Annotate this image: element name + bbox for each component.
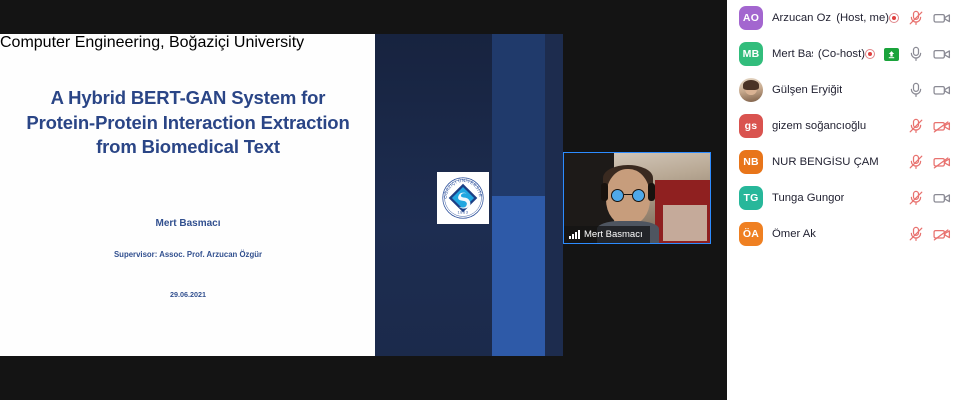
screen-share-icon xyxy=(884,48,899,61)
participant-row[interactable]: TGTunga Gungor xyxy=(727,180,960,216)
avatar-initials: NB xyxy=(739,150,763,174)
svg-text:1863: 1863 xyxy=(458,210,469,215)
participant-row[interactable]: Gülşen Eryiğit xyxy=(727,72,960,108)
presentation-slide: A Hybrid BERT-GAN System for Protein-Pro… xyxy=(0,34,563,356)
participant-name: NUR BENGİSU ÇAM xyxy=(772,156,879,168)
video-camera-off-icon[interactable] xyxy=(933,118,951,134)
participant-status-icons xyxy=(908,82,951,98)
slide-band-edge xyxy=(545,34,563,356)
participant-row[interactable]: AOArzucan Ozgur(Host, me) xyxy=(727,0,960,36)
participant-video-tile[interactable]: Mert Basmacı xyxy=(563,152,711,244)
participant-role: (Host, me) xyxy=(836,12,889,24)
microphone-muted-icon[interactable] xyxy=(908,226,924,242)
video-camera-icon[interactable] xyxy=(933,190,951,206)
participant-name: gizem soğancıoğlu xyxy=(772,120,866,132)
video-camera-icon[interactable] xyxy=(933,46,951,62)
bogazici-university-logo: BOĞAZİÇİ ÜNİVERSİTESİ 1863 xyxy=(437,172,489,224)
headset-right-icon xyxy=(648,183,655,201)
slide-title: A Hybrid BERT-GAN System for Protein-Pro… xyxy=(22,86,354,160)
microphone-muted-icon[interactable] xyxy=(908,10,924,26)
participant-row[interactable]: MBMert Basm…(Co-host) xyxy=(727,36,960,72)
avatar-initials: MB xyxy=(739,42,763,66)
meeting-window: A Hybrid BERT-GAN System for Protein-Pro… xyxy=(0,0,960,400)
microphone-icon[interactable] xyxy=(908,46,924,62)
participant-row[interactable]: ÖAÖmer Ak xyxy=(727,216,960,252)
participant-status-icons xyxy=(865,46,951,62)
video-tile-nameplate: Mert Basmacı xyxy=(564,226,650,243)
avatar-initials: gs xyxy=(739,114,763,138)
avatar-initials: ÖA xyxy=(739,222,763,246)
headset-left-icon xyxy=(601,183,608,201)
participant-name: Arzucan Ozgur xyxy=(772,12,831,24)
microphone-muted-icon[interactable] xyxy=(908,154,924,170)
microphone-muted-icon[interactable] xyxy=(908,118,924,134)
signal-bars-icon xyxy=(569,230,580,239)
recording-indicator-icon xyxy=(865,49,875,59)
participant-status-icons xyxy=(908,154,951,170)
participant-status-icons xyxy=(908,118,951,134)
recording-indicator-icon xyxy=(889,13,899,23)
participant-row[interactable]: gsgizem soğancıoğlu xyxy=(727,108,960,144)
microphone-muted-icon[interactable] xyxy=(908,190,924,206)
participants-panel[interactable]: AOArzucan Ozgur(Host, me)MBMert Basm…(Co… xyxy=(727,0,960,400)
microphone-icon[interactable] xyxy=(908,82,924,98)
participant-name: Tunga Gungor xyxy=(772,192,844,204)
participant-name: Gülşen Eryiğit xyxy=(772,84,842,96)
participant-status-icons xyxy=(908,190,951,206)
participant-status-icons xyxy=(908,226,951,242)
shared-screen-stage[interactable]: A Hybrid BERT-GAN System for Protein-Pro… xyxy=(0,0,727,400)
video-camera-icon[interactable] xyxy=(933,82,951,98)
video-camera-off-icon[interactable] xyxy=(933,226,951,242)
glasses-bridge xyxy=(624,194,632,196)
avatar-photo xyxy=(739,78,763,102)
slide-supervisor: Supervisor: Assoc. Prof. Arzucan Özgür xyxy=(22,250,354,259)
video-camera-off-icon[interactable] xyxy=(933,154,951,170)
slide-affiliation: Computer Engineering, Boğaziçi Universit… xyxy=(0,34,375,52)
participant-status-icons xyxy=(889,10,951,26)
video-background-shelf xyxy=(663,205,707,241)
video-camera-icon[interactable] xyxy=(933,10,951,26)
slide-decorative-panel: BOĞAZİÇİ ÜNİVERSİTESİ 1863 xyxy=(375,34,563,356)
slide-text-column: A Hybrid BERT-GAN System for Protein-Pro… xyxy=(0,34,375,356)
participant-row[interactable]: NBNUR BENGİSU ÇAM xyxy=(727,144,960,180)
video-tile-name-label: Mert Basmacı xyxy=(584,229,643,240)
slide-author: Mert Basmacı xyxy=(22,218,354,229)
slide-date: 29.06.2021 xyxy=(22,290,354,299)
avatar-initials: AO xyxy=(739,6,763,30)
participant-name: Ömer Ak xyxy=(772,228,816,240)
participant-name: Mert Basm… xyxy=(772,48,813,60)
avatar-initials: TG xyxy=(739,186,763,210)
participant-role: (Co-host) xyxy=(818,48,865,60)
